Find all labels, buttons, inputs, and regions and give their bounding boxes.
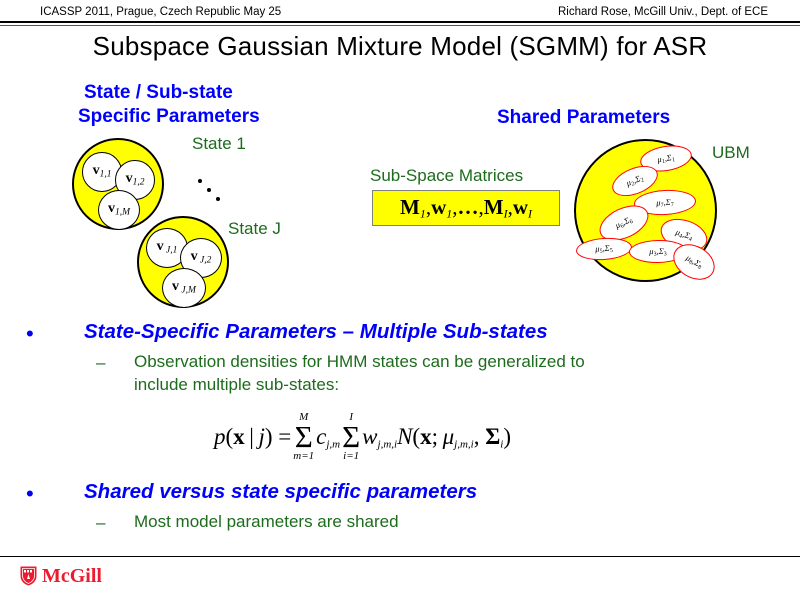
equation-sum2-lower: i=1 bbox=[343, 451, 359, 462]
state1-label: State 1 bbox=[192, 134, 246, 154]
ubm-gaussian-3-label: μ3,Σ3 bbox=[649, 246, 667, 258]
stateJ-subvector-m: v J,M bbox=[162, 268, 206, 308]
bullet-1-sub-text-line1: Observation densities for HMM states can… bbox=[134, 352, 585, 372]
left-panel-heading-line1: State / Sub-state bbox=[84, 82, 233, 104]
mcgill-shield-icon bbox=[20, 566, 37, 586]
state1-subvector-1-label: v1,1 bbox=[93, 164, 112, 180]
stateJ-subvector-2-label: v J,2 bbox=[191, 250, 212, 266]
subspace-matrices-label: Sub-Space Matrices bbox=[370, 166, 523, 186]
equation-sigma-glyph-2: Σ bbox=[342, 423, 360, 451]
bullet-1-text: State-Specific Parameters – Multiple Sub… bbox=[84, 320, 548, 344]
ubm-gaussian-7-label: μ7,Σ7 bbox=[656, 196, 674, 208]
equation-sigma-glyph-1: Σ bbox=[295, 423, 313, 451]
right-panel-heading: Shared Parameters bbox=[497, 107, 670, 129]
bullet-2-text: Shared versus state specific parameters bbox=[84, 480, 477, 504]
state1-subvector-m-label: v1,M bbox=[108, 202, 130, 218]
ubm-gaussian-8-label: μ8,Σ8 bbox=[684, 253, 705, 272]
equation-sum1-lower: m=1 bbox=[293, 451, 314, 462]
mcgill-logo-text: McGill bbox=[42, 566, 102, 586]
page-title: Subspace Gaussian Mixture Model (SGMM) f… bbox=[0, 31, 800, 62]
header-divider-thick bbox=[0, 21, 800, 23]
equation-coefficient-c: cj,m bbox=[316, 424, 340, 450]
equation-sum-over-i: I Σ i=1 bbox=[342, 412, 360, 462]
left-panel-heading-line2: Specific Parameters bbox=[78, 106, 260, 128]
bullet-2-sub-text-line1: Most model parameters are shared bbox=[134, 512, 399, 532]
bullet-2-sub-marker: – bbox=[96, 514, 105, 531]
ubm-label: UBM bbox=[712, 143, 750, 163]
header-divider-thin bbox=[0, 25, 800, 26]
slide: ICASSP 2011, Prague, Czech Republic May … bbox=[0, 0, 800, 599]
equation-coefficient-w: wj,m,i bbox=[362, 424, 397, 450]
equation-sum-over-m: M Σ m=1 bbox=[293, 412, 314, 462]
state1-subvector-m: v1,M bbox=[98, 190, 140, 230]
footer-divider bbox=[0, 556, 800, 557]
stateJ-subvector-1-label: v J,1 bbox=[157, 240, 178, 256]
subspace-matrices-box: M1,w1,…,MI,wI bbox=[372, 190, 560, 226]
ubm-gaussian-5-label: μ5,Σ5 bbox=[595, 243, 613, 256]
header-author-info: Richard Rose, McGill Univ., Dept. of ECE bbox=[558, 6, 768, 18]
header-conference-info: ICASSP 2011, Prague, Czech Republic May … bbox=[40, 6, 281, 18]
subspace-matrices-expression: M1,w1,…,MI,wI bbox=[400, 195, 532, 222]
stateJ-subvector-m-label: v J,M bbox=[172, 280, 196, 296]
observation-density-equation: p(x | j) = M Σ m=1 cj,m I Σ i=1 wj,m,i N… bbox=[214, 412, 511, 462]
stateJ-label: State J bbox=[228, 219, 281, 239]
bullet-2-marker: • bbox=[26, 483, 34, 505]
ubm-gaussian-4-label: μ4,Σ4 bbox=[674, 227, 694, 243]
equation-lhs: p(x | j) = bbox=[214, 424, 291, 450]
bullet-1-sub-marker: – bbox=[96, 354, 105, 371]
bullet-1-sub-text-line2: include multiple sub-states: bbox=[134, 375, 339, 395]
equation-gaussian-term: N(x; μj,m,i, Σi) bbox=[397, 424, 511, 450]
mcgill-logo: McGill bbox=[20, 566, 102, 586]
ubm-gaussian-2-label: μ2,Σ2 bbox=[625, 172, 646, 189]
state1-subvector-2-label: v1,2 bbox=[126, 172, 145, 188]
ubm-gaussian-6-label: μ6,Σ6 bbox=[614, 214, 635, 232]
bullet-1-marker: • bbox=[26, 323, 34, 345]
ubm-gaussian-1-label: μ1,Σ1 bbox=[656, 151, 675, 165]
